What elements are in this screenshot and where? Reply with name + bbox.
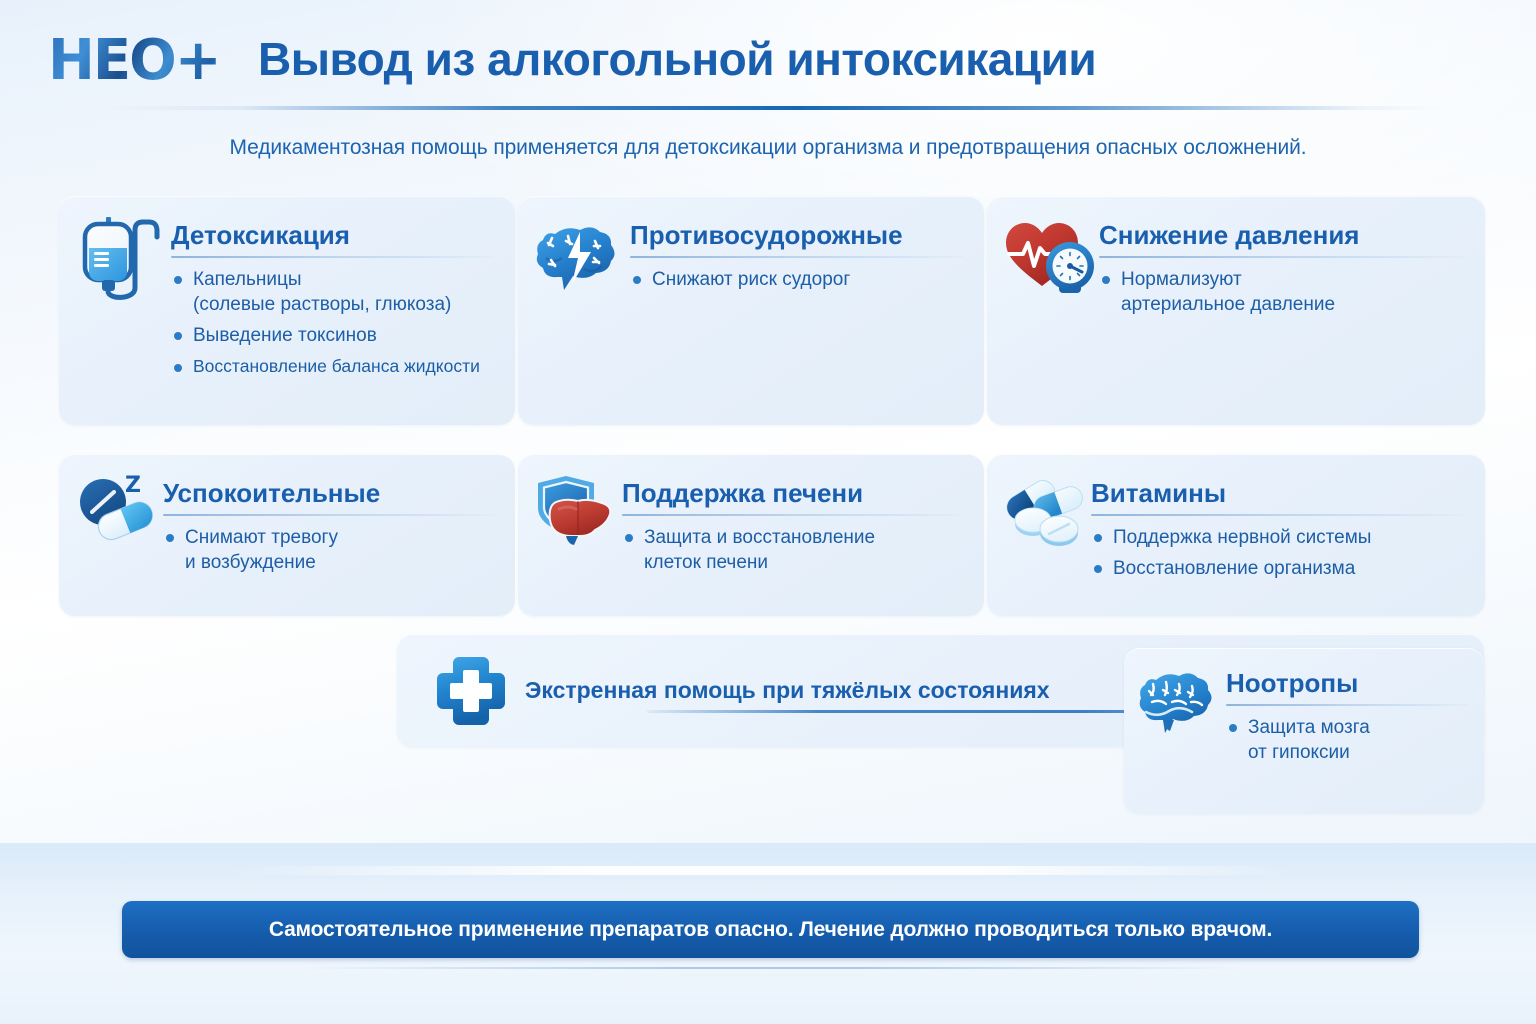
pills-capsules-icon (1001, 472, 1085, 552)
emergency-help-label: Экстренная помощь при тяжёлых состояниях (525, 677, 1050, 704)
bullet-text: Защита и восстановление (644, 527, 875, 548)
svg-text:Z: Z (125, 473, 141, 498)
card-title: Успокоительные (163, 480, 495, 507)
card-bullet-list: Капельницы (солевые растворы, глюкоза) В… (171, 267, 495, 377)
card-bullet-list: Защита и восстановление клеток печени (622, 525, 964, 575)
title-divider (1099, 256, 1465, 258)
card-title: Детоксикация (171, 222, 495, 249)
title-divider (171, 256, 495, 258)
pills-sleep-icon: Z (73, 472, 157, 552)
card-bullet-list: Поддержка нервной системы Восстановление… (1091, 525, 1465, 581)
card-title: Витамины (1091, 480, 1465, 507)
warning-banner: Самостоятельное применение препаратов оп… (122, 901, 1419, 958)
title-divider (622, 514, 964, 516)
card-title: Снижение давления (1099, 222, 1465, 249)
page-header: НЕО+ Вывод из алкогольной интоксикации М… (0, 0, 1536, 112)
list-item: Капельницы (солевые растворы, глюкоза) (171, 267, 495, 317)
card-sedatives: Z Успокоительные Снимают тревогу и возбу… (59, 454, 515, 616)
medical-cross-icon (433, 653, 509, 729)
bullet-subtext: и возбуждение (185, 550, 495, 575)
card-nootropes: Ноотропы Защита мозга от гипоксии (1124, 648, 1484, 813)
card-bullet-list: Снимают тревогу и возбуждение (163, 525, 495, 575)
list-item: Защита мозга от гипоксии (1226, 715, 1468, 765)
warning-text: Самостоятельное применение препаратов оп… (269, 918, 1272, 942)
card-blood-pressure: Снижение давления Нормализуют артериальн… (987, 196, 1485, 425)
bullet-subtext: артериальное давление (1121, 292, 1465, 317)
footer-underline (300, 967, 1240, 969)
bullet-subtext: (солевые растворы, глюкоза) (193, 292, 495, 317)
bullet-text: Капельницы (193, 269, 302, 290)
card-bullet-list: Защита мозга от гипоксии (1226, 715, 1468, 765)
list-item: Защита и восстановление клеток печени (622, 525, 964, 575)
list-item: Восстановление организма (1091, 556, 1465, 581)
card-anticonvulsants: Противосудорожные Снижают риск судорог (518, 196, 984, 425)
iv-drip-icon (73, 214, 165, 302)
bullet-subtext: клеток печени (644, 550, 964, 575)
list-item: Поддержка нервной системы (1091, 525, 1465, 550)
shield-liver-icon (532, 472, 616, 552)
treatment-card-grid: Детоксикация Капельницы (солевые раствор… (59, 196, 1484, 616)
bullet-text: Защита мозга (1248, 717, 1370, 738)
card-liver-support: Поддержка печени Защита и восстановление… (518, 454, 984, 616)
page-subtitle: Медикаментозная помощь применяется для д… (0, 136, 1536, 160)
title-divider (163, 514, 495, 516)
list-item: Снижают риск судорог (630, 267, 964, 292)
header-divider (104, 106, 1442, 110)
card-title: Противосудорожные (630, 222, 964, 249)
list-item: Нормализуют артериальное давление (1099, 267, 1465, 317)
list-item: Выведение токсинов (171, 323, 495, 348)
heart-pressure-gauge-icon (1001, 214, 1093, 302)
title-divider (630, 256, 964, 258)
page-title: Вывод из алкогольной интоксикации (258, 33, 1096, 86)
brain-icon (1136, 662, 1220, 742)
card-title: Ноотропы (1226, 670, 1468, 697)
bullet-subtext: от гипоксии (1248, 740, 1468, 765)
neo-plus-logo: НЕО+ (48, 33, 220, 89)
card-bullet-list: Снижают риск судорог (630, 267, 964, 292)
title-divider (1226, 704, 1468, 706)
bullet-text: Нормализуют (1121, 269, 1242, 290)
card-bullet-list: Нормализуют артериальное давление (1099, 267, 1465, 317)
list-item: Снимают тревогу и возбуждение (163, 525, 495, 575)
footer-highlight (230, 866, 1290, 875)
card-detox: Детоксикация Капельницы (солевые раствор… (59, 196, 515, 425)
card-vitamins: Витамины Поддержка нервной системы Восст… (987, 454, 1485, 616)
brain-lightning-icon (532, 214, 624, 302)
bullet-text: Снимают тревогу (185, 527, 338, 548)
title-divider (1091, 514, 1465, 516)
card-title: Поддержка печени (622, 480, 964, 507)
list-item: Восстановление баланса жидкости (171, 355, 495, 378)
